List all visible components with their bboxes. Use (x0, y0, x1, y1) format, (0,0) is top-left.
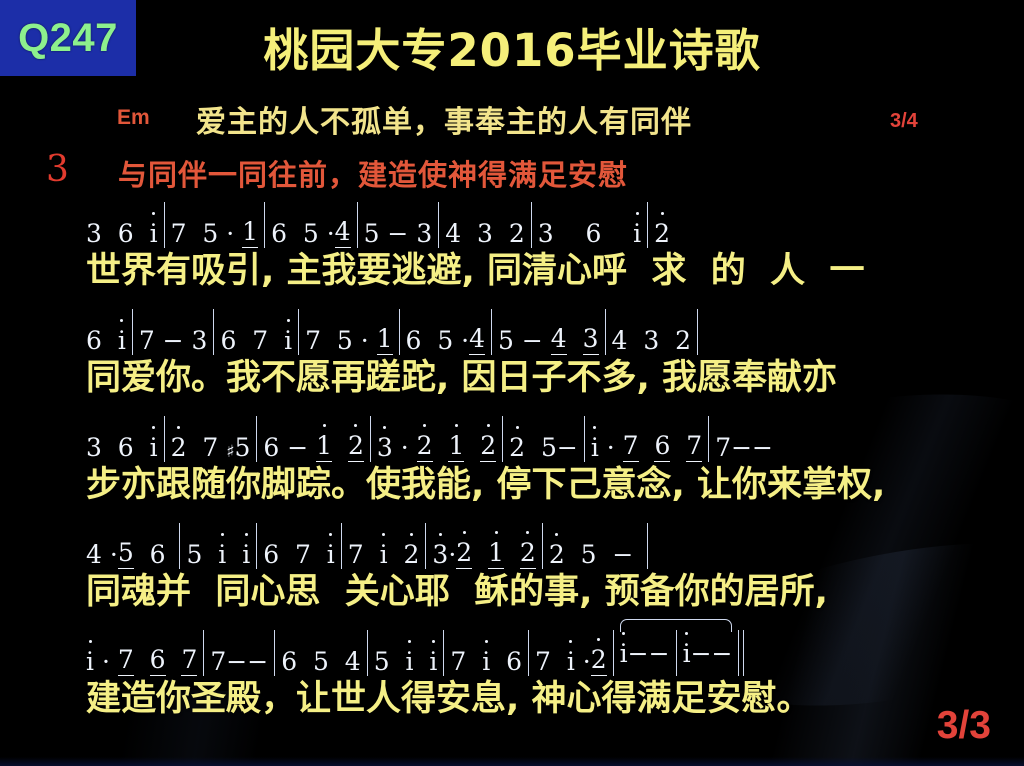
lyrics-line: 同魂并 同心思 关心耶 稣的事, 预备你的居所, (0, 563, 1024, 614)
page-count-label: 3/3 (937, 704, 991, 748)
chord-label-em: Em (117, 106, 150, 130)
verse-number-label: 3 (46, 149, 69, 190)
tie-bracket (620, 619, 733, 632)
stave-row: 3 6 i2 7 ♯56 − 1 23 · 2 1 22 5−i · 7 6 7… (0, 418, 1024, 525)
slide-canvas: Q247 桃园大专2016毕业诗歌 Em 爱主的人不孤单，事奉主的人有同伴 3/… (0, 0, 1024, 766)
music-staff-block: 3 6 i7 5 · 16 5 ·45 − 34 3 23 6 i2 世界有吸引… (0, 204, 1024, 739)
bottom-edge-shadow (0, 757, 1024, 766)
lyrics-line: 建造你圣殿，让世人得安息, 神心得满足安慰。 (0, 670, 1024, 721)
page-title: 桃园大专2016毕业诗歌 (0, 14, 1024, 79)
lyrics-line: 世界有吸引, 主我要逃避, 同清心呼 求 的 人 一 (0, 242, 1024, 293)
lyrics-line: 步亦跟随你脚踪。使我能, 停下己意念, 让你来掌权, (0, 456, 1024, 507)
lyrics-line: 同爱你。我不愿再蹉跎, 因日子不多, 我愿奉献亦 (0, 349, 1024, 400)
stave-row: 6 i7 − 36 7 i7 5 · 16 5 ·45 − 4 34 3 2 同… (0, 311, 1024, 418)
stave-row: 4 ·5 6 5 i i6 7 i7 i 23·2 1 22 5 − 同魂并 同… (0, 525, 1024, 632)
stave-row: 3 6 i7 5 · 16 5 ·45 − 34 3 23 6 i2 世界有吸引… (0, 204, 1024, 311)
time-signature-label: 3/4 (890, 110, 918, 133)
stave-row: i · 7 6 77−−6 5 45 i i7 i 67 i ·2i−−i−− … (0, 632, 1024, 739)
refrain-line-1: 爱主的人不孤单，事奉主的人有同伴 (196, 97, 692, 141)
refrain-line-2: 与同伴一同往前，建造使神得满足安慰 (118, 152, 628, 194)
